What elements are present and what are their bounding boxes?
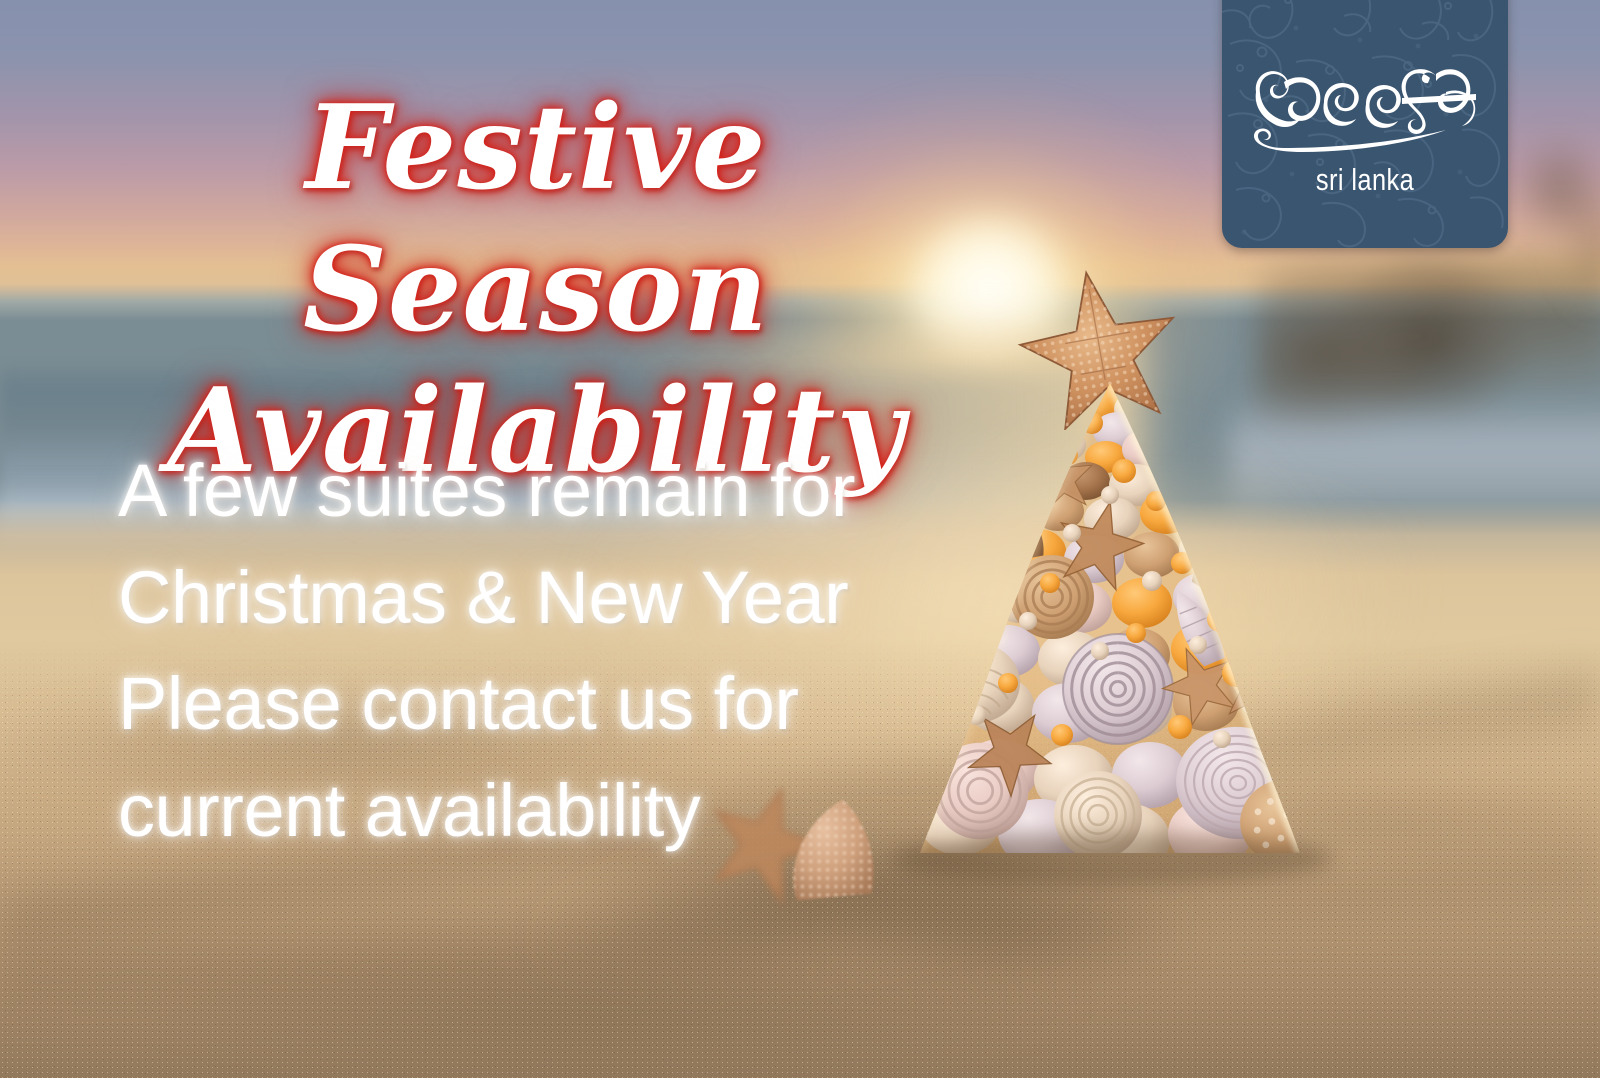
logo-subtitle: sri lanka xyxy=(1248,162,1483,198)
poster-canvas: Festive Season Availability A few suites… xyxy=(0,0,1600,1078)
brand-logo[interactable]: sri lanka xyxy=(1222,0,1508,248)
body-copy: A few suites remain for Christmas & New … xyxy=(118,438,938,864)
logo-wordmark xyxy=(1240,58,1490,154)
